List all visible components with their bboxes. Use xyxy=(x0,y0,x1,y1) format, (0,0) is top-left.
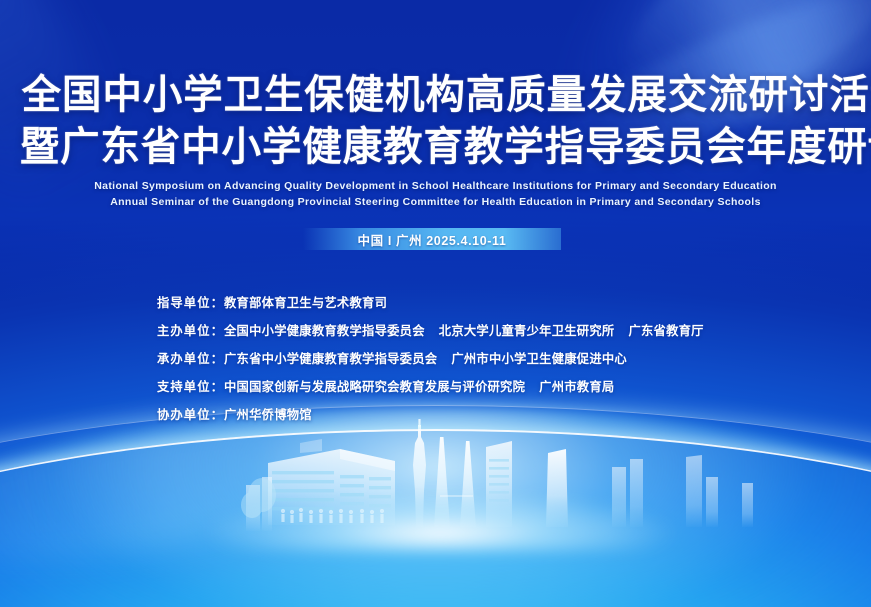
organization-label: 支持单位： xyxy=(157,380,224,394)
organization-row: 支持单位：中国国家创新与发展战略研究会教育发展与评价研究院广州市教育局 xyxy=(157,373,704,401)
organization-entry: 广州华侨博物馆 xyxy=(224,408,312,422)
poster-content: 全国中小学卫生保健机构高质量发展交流研讨活动 暨广东省中小学健康教育教学指导委员… xyxy=(0,0,871,607)
conference-poster: 全国中小学卫生保健机构高质量发展交流研讨活动 暨广东省中小学健康教育教学指导委员… xyxy=(0,0,871,607)
subtitle-line-1: National Symposium on Advancing Quality … xyxy=(0,178,871,194)
organization-entry: 广东省中小学健康教育教学指导委员会 xyxy=(224,352,437,366)
organization-entry: 广州市教育局 xyxy=(539,380,614,394)
organization-label: 承办单位： xyxy=(157,352,224,366)
organization-row: 承办单位：广东省中小学健康教育教学指导委员会广州市中小学卫生健康促进中心 xyxy=(157,345,704,373)
english-subtitle: National Symposium on Advancing Quality … xyxy=(0,178,871,210)
subtitle-line-2: Annual Seminar of the Guangdong Provinci… xyxy=(0,194,871,210)
organization-list: 指导单位：教育部体育卫生与艺术教育司 主办单位：全国中小学健康教育教学指导委员会… xyxy=(157,289,704,429)
title-line-1: 全国中小学卫生保健机构高质量发展交流研讨活动 xyxy=(0,72,858,118)
organization-row: 主办单位：全国中小学健康教育教学指导委员会北京大学儿童青少年卫生研究所广东省教育… xyxy=(157,317,704,345)
organization-entry: 全国中小学健康教育教学指导委员会 xyxy=(224,324,425,338)
organization-entry: 北京大学儿童青少年卫生研究所 xyxy=(439,324,615,338)
title-line-2: 暨广东省中小学健康教育教学指导委员会年度研讨活动 xyxy=(0,124,858,170)
organization-label: 指导单位： xyxy=(157,296,224,310)
main-title: 全国中小学卫生保健机构高质量发展交流研讨活动 暨广东省中小学健康教育教学指导委员… xyxy=(0,72,871,170)
date-location-banner: 中国 I 广州 2025.4.10-11 xyxy=(303,228,561,250)
organization-label: 协办单位： xyxy=(157,408,224,422)
organization-entry: 广东省教育厅 xyxy=(628,324,703,338)
organization-entry: 教育部体育卫生与艺术教育司 xyxy=(224,296,387,310)
organization-entry: 广州市中小学卫生健康促进中心 xyxy=(451,352,627,366)
organization-row: 协办单位：广州华侨博物馆 xyxy=(157,401,704,429)
organization-label: 主办单位： xyxy=(157,324,224,338)
date-location-text: 中国 I 广州 2025.4.10-11 xyxy=(358,230,507,249)
organization-entry: 中国国家创新与发展战略研究会教育发展与评价研究院 xyxy=(224,380,525,394)
organization-row: 指导单位：教育部体育卫生与艺术教育司 xyxy=(157,289,704,317)
